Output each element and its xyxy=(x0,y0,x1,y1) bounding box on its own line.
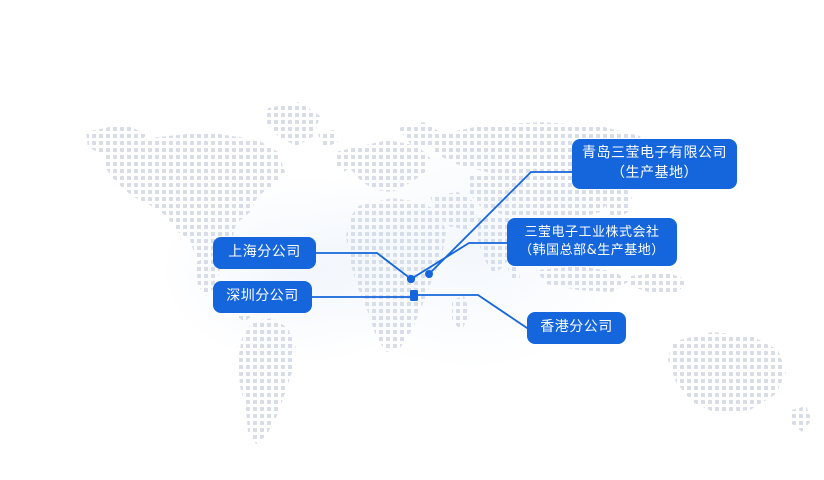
shenzhen-label-line1: 深圳分公司 xyxy=(226,287,299,307)
qingdao-label-line1: 青岛三莹电子有限公司 xyxy=(582,144,727,164)
hongkong-label[interactable]: 香港分公司 xyxy=(527,312,626,344)
qingdao-label[interactable]: 青岛三莹电子有限公司 （生产基地） xyxy=(572,139,737,189)
shanghai-label-line1: 上海分公司 xyxy=(228,243,301,263)
korea-hq-label[interactable]: 三莹电子工业株式会社 （韩国总部&生产基地） xyxy=(507,218,677,266)
qingdao-label-line2: （生产基地） xyxy=(611,164,698,184)
label-layer: 青岛三莹电子有限公司 （生产基地） 三莹电子工业株式会社 （韩国总部&生产基地）… xyxy=(0,0,824,480)
korea-hq-label-line2: （韩国总部&生产基地） xyxy=(519,242,665,260)
hongkong-label-line1: 香港分公司 xyxy=(540,318,613,338)
shenzhen-label[interactable]: 深圳分公司 xyxy=(213,281,312,313)
shanghai-label[interactable]: 上海分公司 xyxy=(213,237,316,269)
diagram-canvas: 青岛三莹电子有限公司 （生产基地） 三莹电子工业株式会社 （韩国总部&生产基地）… xyxy=(0,0,824,480)
korea-hq-label-line1: 三莹电子工业株式会社 xyxy=(524,224,659,242)
